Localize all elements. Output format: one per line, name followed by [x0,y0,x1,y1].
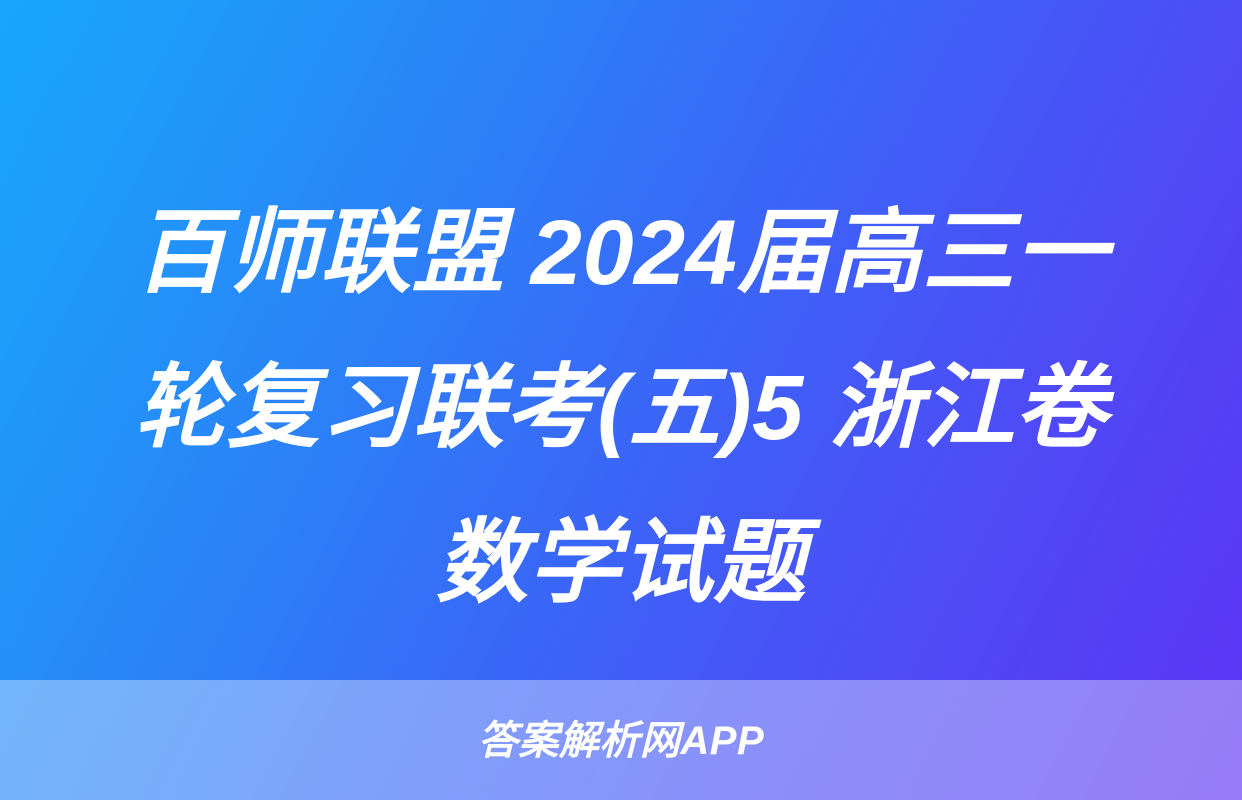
watermark-label: 答案解析网APP [478,721,764,761]
title-line-2: 轮复习联考(五)5 浙江卷 [72,331,1170,486]
cover-banner: 百师联盟 2024届高三一 轮复习联考(五)5 浙江卷 数学试题 答案解析网AP… [0,0,1242,800]
title-line-1: 百师联盟 2024届高三一 [72,176,1170,331]
title-line-3: 数学试题 [72,486,1170,641]
footer-band: 答案解析网APP [0,680,1242,800]
page-title: 百师联盟 2024届高三一 轮复习联考(五)5 浙江卷 数学试题 [0,176,1242,641]
